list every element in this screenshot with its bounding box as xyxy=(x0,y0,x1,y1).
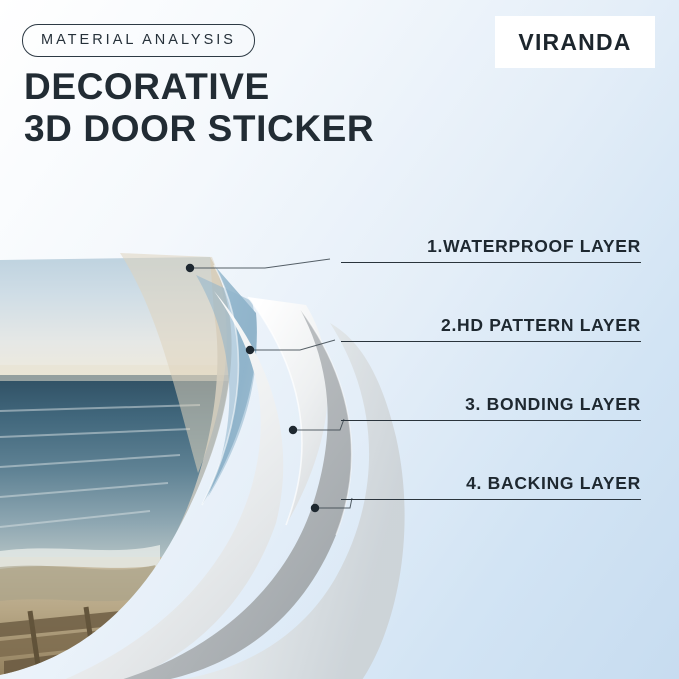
callout-label-4: 4. BACKING LAYER xyxy=(341,473,641,499)
callout-label-1: 1.WATERPROOF LAYER xyxy=(341,236,641,262)
eyebrow-badge: MATERIAL ANALYSIS xyxy=(22,24,255,57)
page-title-line-2: 3D DOOR STICKER xyxy=(24,108,374,150)
callout-backing-layer: 4. BACKING LAYER xyxy=(341,473,641,500)
page-title: DECORATIVE 3D DOOR STICKER xyxy=(24,66,374,150)
callout-rule-4 xyxy=(341,499,641,500)
brand-name: VIRANDA xyxy=(518,29,631,56)
callout-label-3: 3. BONDING LAYER xyxy=(341,394,641,420)
callout-rule-3 xyxy=(341,420,641,421)
callout-rule-2 xyxy=(341,341,641,342)
callout-hd-pattern-layer: 2.HD PATTERN LAYER xyxy=(341,315,641,342)
callout-waterproof-layer: 1.WATERPROOF LAYER xyxy=(341,236,641,263)
brand-logo-box: VIRANDA xyxy=(495,16,655,68)
poster-canvas: MATERIAL ANALYSIS DECORATIVE 3D DOOR STI… xyxy=(0,0,679,679)
page-title-line-1: DECORATIVE xyxy=(24,66,374,108)
callout-rule-1 xyxy=(341,262,641,263)
callout-bonding-layer: 3. BONDING LAYER xyxy=(341,394,641,421)
sticker-illustration xyxy=(0,205,420,679)
callout-label-2: 2.HD PATTERN LAYER xyxy=(341,315,641,341)
